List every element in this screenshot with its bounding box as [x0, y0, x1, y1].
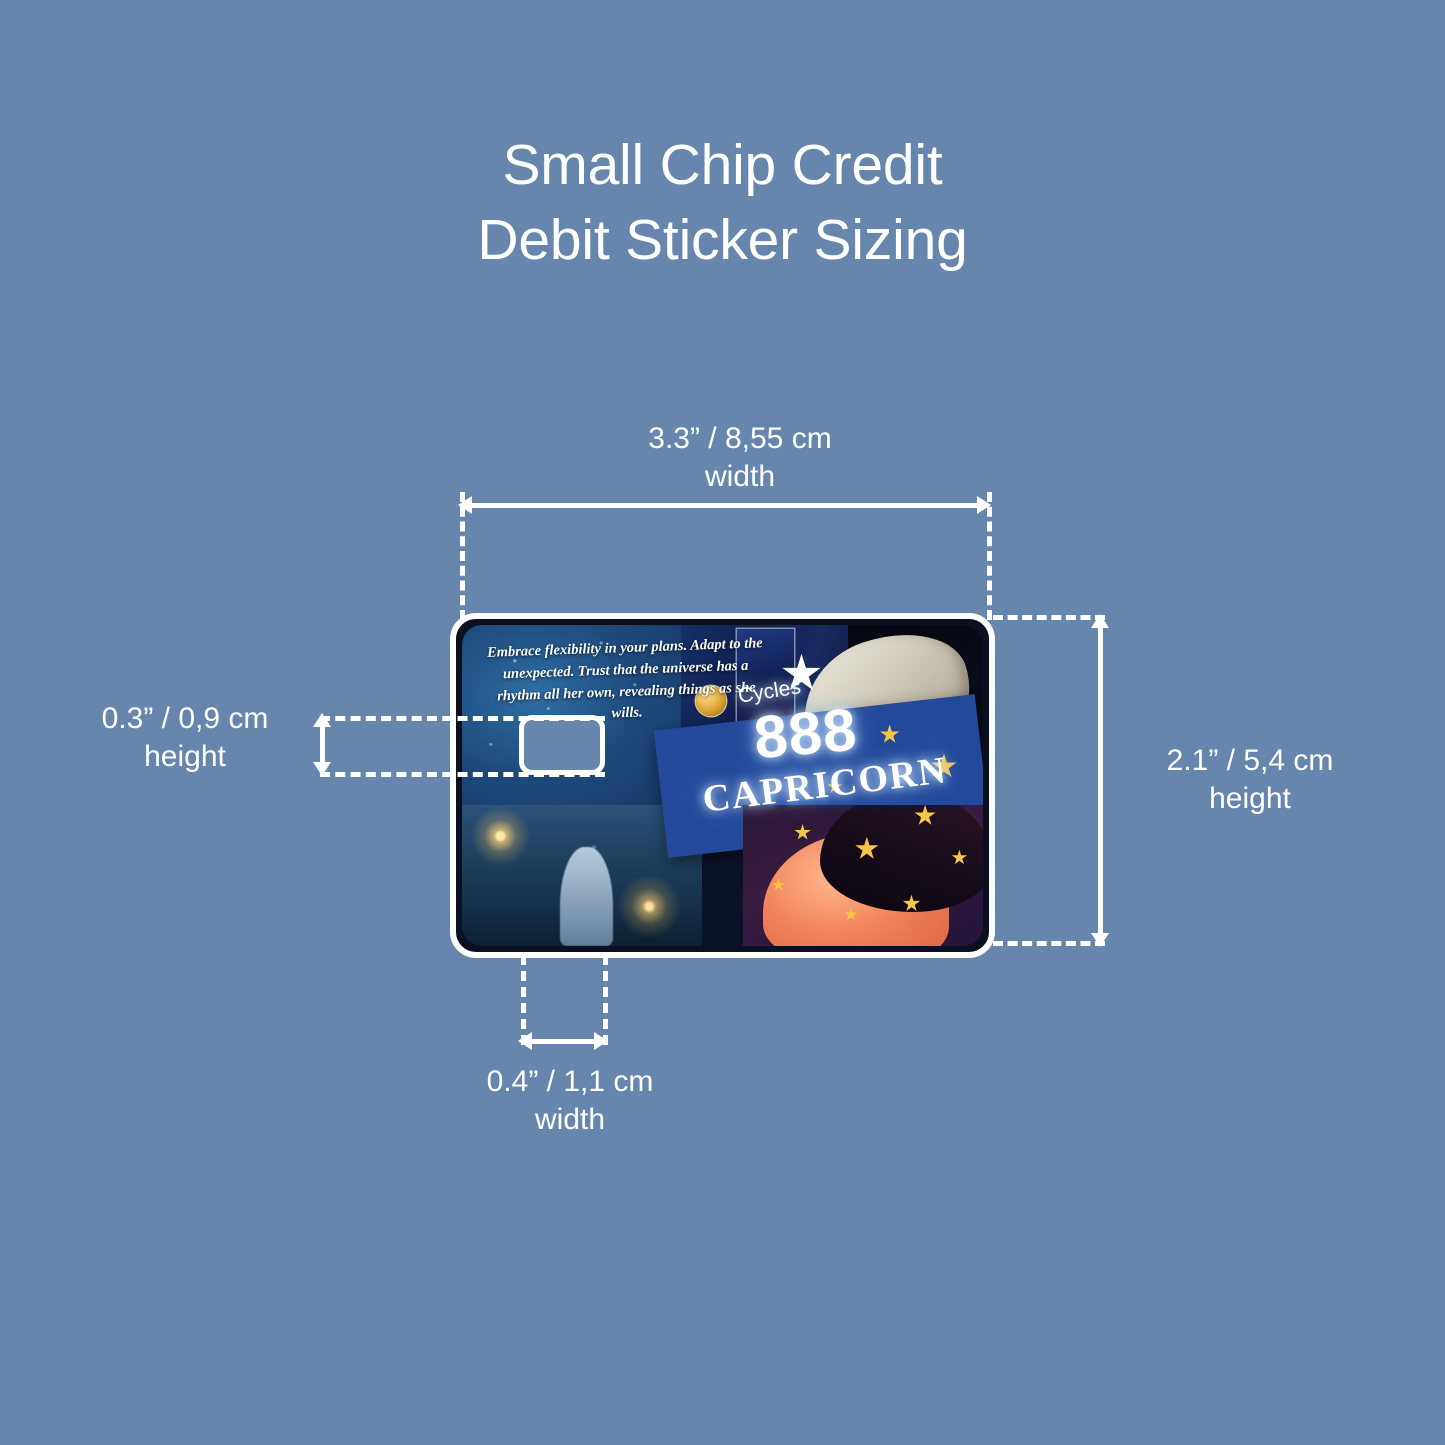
page-title: Small Chip Credit Debit Sticker Sizing [0, 128, 1445, 278]
dimension-arrow-card-height [1089, 614, 1111, 947]
dimension-label-chip-height: 0.3” / 0,9 cm height [60, 700, 310, 777]
dimension-arrow-card-width [458, 494, 991, 516]
sizing-diagram: Small Chip Credit Debit Sticker Sizing E… [0, 0, 1445, 1445]
card-artwork: Embrace flexibility in your plans. Adapt… [462, 625, 983, 946]
dimension-arrow-chip-height [311, 713, 333, 776]
arrow-head-down [313, 762, 331, 776]
dimension-label-chip-width: 0.4” / 1,1 cm width [440, 1063, 700, 1140]
card-sticker-preview: Embrace flexibility in your plans. Adapt… [450, 613, 995, 958]
dimension-label-card-width: 3.3” / 8,55 cm width [545, 420, 935, 497]
arrow-bar [1098, 622, 1103, 939]
dimension-label-card-height: 2.1” / 5,4 cm height [1120, 742, 1380, 819]
arrow-head-down [1091, 933, 1109, 947]
arrow-head-right [977, 496, 991, 514]
dimension-arrow-chip-width [518, 1030, 608, 1052]
arrow-bar [320, 721, 325, 768]
pop-art-sleeping-woman-art [743, 805, 983, 946]
chip-cutout-area [519, 715, 605, 775]
guide-line-chip-top [320, 716, 605, 721]
guide-line-chip-bottom [320, 772, 605, 777]
arrow-bar [466, 503, 983, 508]
arrow-head-right [594, 1032, 608, 1050]
arrow-bar [526, 1039, 600, 1044]
